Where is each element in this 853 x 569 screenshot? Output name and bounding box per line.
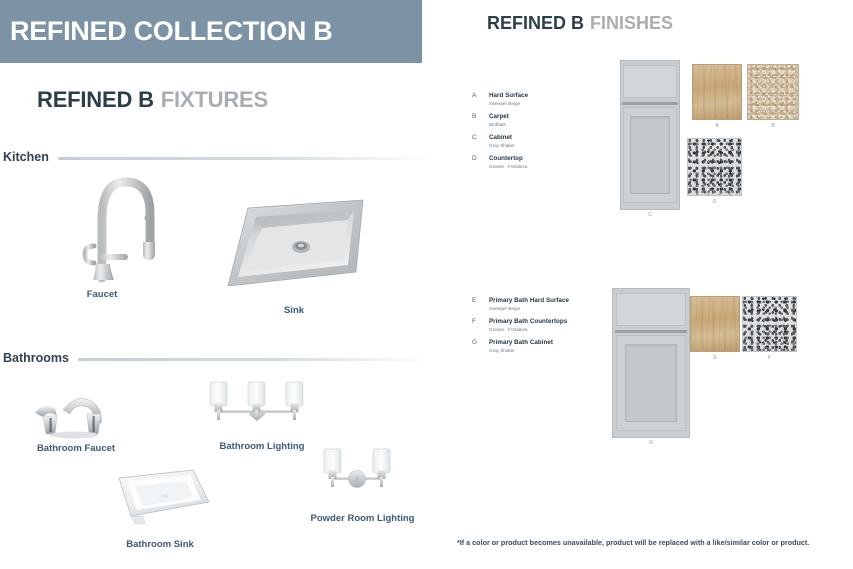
cabinet-reveal-line xyxy=(622,102,678,105)
legend-name: Countertop xyxy=(489,155,602,163)
finishes-title-light: FINISHES xyxy=(590,13,673,33)
cabinet-door-inner-panel xyxy=(630,116,669,193)
kitchen-faucet-image xyxy=(80,168,170,283)
bathroom-sink-image xyxy=(105,462,215,528)
collection-title-banner: REFINED COLLECTION B xyxy=(0,0,422,63)
swatch-letter-d: D xyxy=(687,199,742,205)
group-divider-bathrooms xyxy=(78,358,433,361)
cabinet-door-swatch-g xyxy=(612,288,690,438)
wood-plank-swatch-e xyxy=(690,296,740,352)
fixtures-title-light: FIXTURES xyxy=(161,87,268,112)
cabinet-door-inner-panel xyxy=(625,344,677,421)
legend-letter: D xyxy=(472,155,486,162)
cabinet-door-panel xyxy=(623,107,676,203)
swatch-letter-g: G xyxy=(612,440,690,446)
legend-item: E Primary Bath Hard Surface Sweeper Beig… xyxy=(472,297,622,312)
legend-name: Hard Surface xyxy=(489,92,602,100)
fixture-label-bathroom-lighting: Bathroom Lighting xyxy=(202,441,322,452)
legend-sub: Gray Shaker xyxy=(489,347,622,354)
collection-board-page: REFINED COLLECTION B REFINED BFIXTURES K… xyxy=(0,0,853,569)
kitchen-sink-image xyxy=(218,198,370,294)
finishes-section-title: REFINED BFINISHES xyxy=(487,13,673,34)
cabinet-door-panel xyxy=(616,335,686,431)
legend-sub: Birdbath xyxy=(489,121,602,128)
finishes-legend-primary: A Hard Surface Sweeper Beige B Carpet Bi… xyxy=(472,92,602,176)
legend-sub: Sweeper Beige xyxy=(489,305,622,312)
legend-letter: B xyxy=(472,113,486,120)
collection-title-text: REFINED COLLECTION B xyxy=(0,16,333,47)
cabinet-drawer-panel xyxy=(616,293,686,326)
legend-sub: Gray Shaker xyxy=(489,142,602,149)
granite-swatch-d xyxy=(687,138,742,196)
fixture-label-powder-room-lighting: Powder Room Lighting xyxy=(300,513,425,524)
fixture-label-kitchen-sink: Sink xyxy=(254,305,334,316)
cabinet-reveal-line xyxy=(615,330,688,333)
fixture-label-kitchen-faucet: Faucet xyxy=(62,289,142,300)
swatch-letter-c: C xyxy=(620,212,680,218)
powder-room-lighting-image xyxy=(315,447,400,502)
legend-item: G Primary Bath Cabinet Gray Shaker xyxy=(472,339,622,354)
availability-footnote: *If a color or product becomes unavailab… xyxy=(457,538,809,547)
legend-item: A Hard Surface Sweeper Beige xyxy=(472,92,602,107)
cabinet-drawer-panel xyxy=(623,65,676,98)
group-divider-kitchen xyxy=(58,157,433,160)
bathroom-lighting-image xyxy=(205,380,310,435)
legend-letter: F xyxy=(472,318,486,325)
group-label-kitchen: Kitchen xyxy=(3,150,58,164)
legend-item: F Primary Bath Countertops Granite - For… xyxy=(472,318,622,333)
granite-swatch-f xyxy=(742,296,797,352)
group-header-kitchen: Kitchen xyxy=(3,150,433,164)
fixtures-section-title: REFINED BFIXTURES xyxy=(37,87,268,113)
legend-letter: A xyxy=(472,92,486,99)
carpet-swatch-b xyxy=(747,64,799,120)
legend-name: Primary Bath Hard Surface xyxy=(489,297,622,305)
fixture-label-bathroom-faucet: Bathroom Faucet xyxy=(16,443,136,454)
finishes-legend-secondary: E Primary Bath Hard Surface Sweeper Beig… xyxy=(472,297,622,360)
group-header-bathrooms: Bathrooms xyxy=(3,351,433,365)
legend-letter: C xyxy=(472,134,486,141)
swatch-letter-e: E xyxy=(690,355,740,361)
wood-plank-swatch-a xyxy=(692,64,742,120)
legend-sub: Granite - Fortaleza xyxy=(489,326,622,333)
swatch-letter-b: B xyxy=(747,123,799,129)
group-label-bathrooms: Bathrooms xyxy=(3,351,78,365)
swatch-letter-f: F xyxy=(742,355,797,361)
finishes-title-bold: REFINED B xyxy=(487,13,584,33)
legend-item: B Carpet Birdbath xyxy=(472,113,602,128)
legend-sub: Granite - Fortaleza xyxy=(489,163,602,170)
legend-letter: E xyxy=(472,297,486,304)
legend-name: Primary Bath Countertops xyxy=(489,318,622,326)
legend-item: D Countertop Granite - Fortaleza xyxy=(472,155,602,170)
cabinet-door-swatch-c xyxy=(620,60,680,210)
bathroom-faucet-image xyxy=(27,390,127,440)
swatch-letter-a: A xyxy=(692,123,742,129)
legend-sub: Sweeper Beige xyxy=(489,100,602,107)
legend-name: Carpet xyxy=(489,113,602,121)
legend-name: Cabinet xyxy=(489,134,602,142)
fixture-label-bathroom-sink: Bathroom Sink xyxy=(110,539,210,550)
fixtures-title-bold: REFINED B xyxy=(37,87,154,112)
legend-item: C Cabinet Gray Shaker xyxy=(472,134,602,149)
legend-letter: G xyxy=(472,339,486,346)
legend-name: Primary Bath Cabinet xyxy=(489,339,622,347)
